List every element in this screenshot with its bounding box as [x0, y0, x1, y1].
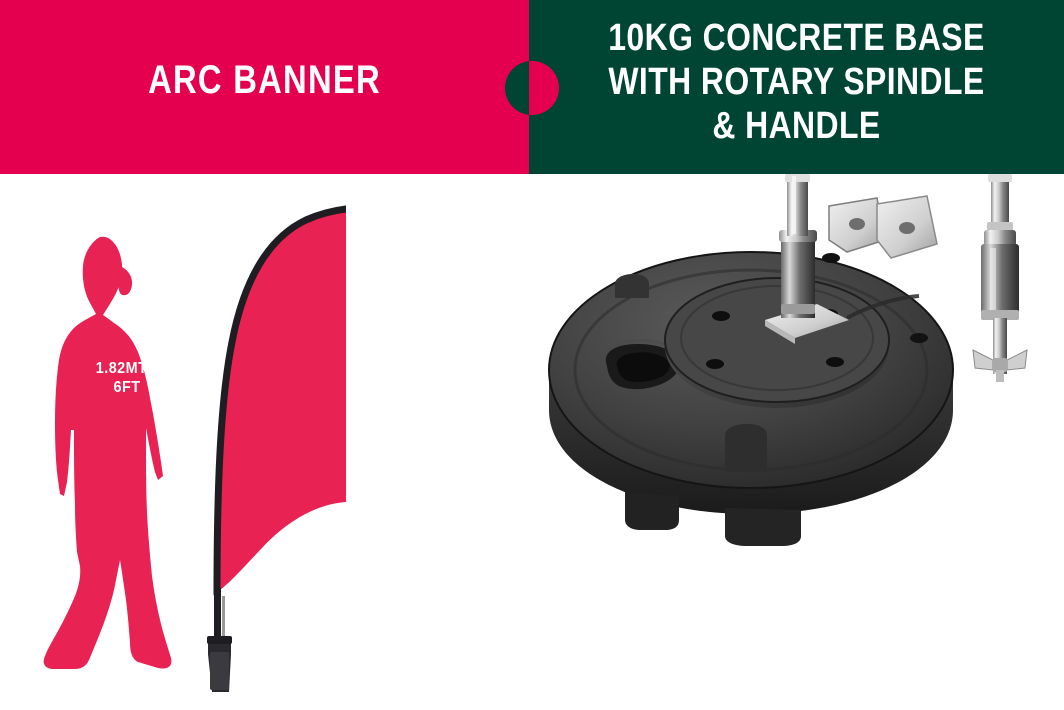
- split-circle-right-half: [529, 61, 559, 115]
- left-panel: 1.82MTR 6FT 1.56 X 0.45M BANNE: [0, 174, 529, 710]
- header-right-title-line-1: 10KG CONCRETE BASE: [572, 16, 1021, 60]
- person-height-metric: 1.82MTR: [78, 359, 177, 378]
- person-silhouette-svg: [34, 204, 184, 674]
- header-bar: ARC BANNER 10KG CONCRETE BASE WITH ROTAR…: [0, 0, 1064, 174]
- concrete-base-svg: [529, 174, 1064, 554]
- arc-banner-graphic: [186, 192, 346, 692]
- infographic-page: ARC BANNER 10KG CONCRETE BASE WITH ROTAR…: [0, 0, 1064, 710]
- header-right-title: 10KG CONCRETE BASE WITH ROTARY SPINDLE &…: [529, 16, 1064, 148]
- person-height-imperial: 6FT: [78, 378, 177, 397]
- arc-banner-svg: [186, 192, 346, 692]
- right-panel: ROTATING SPINDLE HANDLE PLASTIC COATING …: [529, 174, 1064, 710]
- split-circle-left-half: [505, 61, 529, 115]
- header-left-title: ARC BANNER: [48, 58, 482, 103]
- header-right-title-line-3: & HANDLE: [572, 104, 1021, 148]
- person-height-label: 1.82MTR 6FT: [72, 359, 182, 397]
- mounting-plates: [829, 196, 937, 258]
- rotating-spindle-part: [973, 174, 1027, 382]
- split-circle-divider-icon: [505, 61, 559, 115]
- person-silhouette: 1.82MTR 6FT: [34, 204, 184, 674]
- header-right-title-line-2: WITH ROTARY SPINDLE: [572, 60, 1021, 104]
- concrete-base-photo: [529, 174, 1064, 544]
